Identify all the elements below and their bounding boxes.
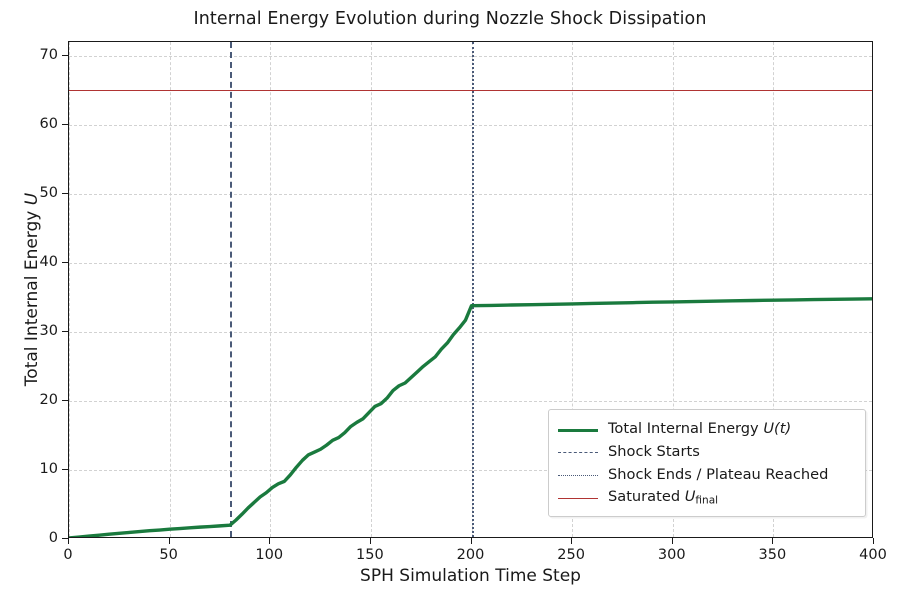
y-tick-mark (62, 538, 68, 539)
x-tick-label: 150 (356, 547, 384, 563)
legend-swatch-icon (558, 422, 598, 436)
x-tick-mark (772, 538, 773, 544)
legend-item-label: Total Internal Energy U(t) (608, 420, 791, 437)
x-tick-label: 200 (457, 547, 485, 563)
y-axis-label-symbol: U (22, 193, 42, 205)
legend-swatch-icon (558, 445, 598, 459)
legend-item[interactable]: Shock Starts (558, 440, 855, 463)
legend-item[interactable]: Shock Ends / Plateau Reached (558, 463, 855, 486)
x-tick-label: 0 (63, 547, 72, 563)
x-tick-label: 100 (255, 547, 283, 563)
x-tick-mark (169, 538, 170, 544)
chart-figure: Internal Energy Evolution during Nozzle … (0, 0, 900, 600)
legend-item-label: Shock Ends / Plateau Reached (608, 466, 828, 483)
x-tick-mark (68, 538, 69, 544)
x-tick-label: 400 (859, 547, 887, 563)
x-tick-label: 250 (557, 547, 585, 563)
x-tick-label: 350 (759, 547, 787, 563)
x-tick-mark (471, 538, 472, 544)
x-tick-mark (571, 538, 572, 544)
x-tick-mark (873, 538, 874, 544)
x-axis-label: SPH Simulation Time Step (68, 566, 873, 586)
x-tick-mark (269, 538, 270, 544)
x-tick-label: 300 (658, 547, 686, 563)
x-tick-label: 50 (159, 547, 177, 563)
legend-item-label: Saturated Ufinal (608, 488, 718, 506)
x-tick-mark (672, 538, 673, 544)
legend-item[interactable]: Total Internal Energy U(t) (558, 417, 855, 440)
y-axis-label-text: Total Internal Energy (22, 205, 42, 386)
x-tick-mark (370, 538, 371, 544)
page-title: Internal Energy Evolution during Nozzle … (0, 9, 900, 29)
legend-item-label: Shock Starts (608, 443, 700, 460)
legend-swatch-icon (558, 491, 598, 505)
legend-swatch-icon (558, 468, 598, 482)
legend-item[interactable]: Saturated Ufinal (558, 486, 855, 509)
chart-legend: Total Internal Energy U(t)Shock StartsSh… (548, 409, 866, 517)
y-axis-label: Total Internal Energy U (22, 41, 46, 538)
